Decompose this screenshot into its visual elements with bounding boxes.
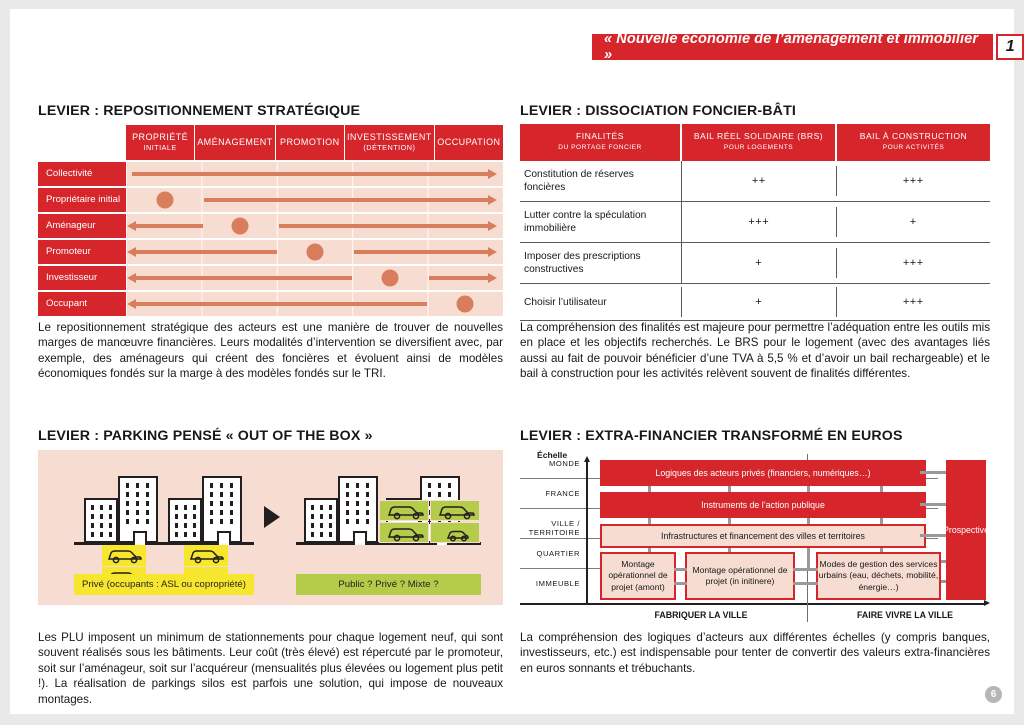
matrix-col-amenagement: Aménagement — [195, 125, 275, 160]
parking-cell-silo — [379, 500, 429, 521]
small-car-icon — [431, 523, 481, 544]
bar-logiques-acteurs-prives: Logiques des acteurs privés (financiers,… — [600, 460, 926, 486]
matrix-col-promotion: Promotion — [276, 125, 345, 160]
matrix-row-collectivite: Collectivité — [38, 162, 503, 187]
panel-title-repositionnement: LEVIER : REPOSITIONNEMENT STRATÉGIQUE — [38, 103, 503, 119]
legend-public-prive-mixte: Public ? Privé ? Mixte ? — [296, 574, 481, 595]
matrix-row-track — [126, 240, 503, 265]
paragraph-parking: Les PLU imposent un minimum de stationne… — [38, 630, 503, 707]
car-icon — [431, 501, 481, 522]
arrow-left — [135, 250, 277, 254]
matrix-repositionnement: Propriété initiale Aménagement Promotion… — [38, 125, 503, 316]
matrix-row-promoteur: Promoteur — [38, 240, 503, 265]
phase-dot — [307, 243, 324, 260]
page-edge-left — [0, 0, 10, 725]
table-cell-brs: + — [682, 287, 837, 317]
matrix-row-track — [126, 266, 503, 291]
scale-label-ville-territoire: Ville / Territoire — [520, 519, 580, 537]
table-cell-bac: +++ — [837, 248, 991, 278]
matrix-row-investisseur: Investisseur — [38, 266, 503, 291]
matrix-header-row: Propriété initiale Aménagement Promotion… — [38, 125, 503, 160]
box-prospective: Prospective — [946, 460, 986, 600]
bar-infrastructures-financement: Infrastructures et financement des ville… — [600, 524, 926, 548]
bar-instruments-action-publique: Instruments de l’action publique — [600, 492, 926, 518]
x-axis-arrow-icon — [984, 600, 990, 606]
arrow-right — [354, 250, 489, 254]
header-chapter-number: 1 — [996, 34, 1024, 60]
table-cell-brs: ++ — [682, 166, 837, 196]
table-col-sublabel: pour logements — [724, 143, 793, 154]
arrow-left — [135, 276, 352, 280]
car-icon — [380, 501, 430, 522]
table-cell-finalite: Choisir l’utilisateur — [520, 287, 682, 317]
connector — [674, 568, 687, 571]
car-icon — [102, 545, 146, 566]
header-title: « Nouvelle économie de l’aménagement et … — [592, 34, 993, 60]
arrow-right — [429, 276, 489, 280]
matrix-row-label: Investisseur — [38, 266, 126, 291]
table-header-row: Finalités du portage foncier Bail Réel S… — [520, 124, 990, 161]
document-page: « Nouvelle économie de l’aménagement et … — [0, 0, 1024, 725]
matrix-col-occupation: Occupation — [435, 125, 503, 160]
table-cell-bac: + — [837, 207, 991, 237]
table-row: Imposer des prescriptions constructives … — [520, 243, 990, 284]
table-col-finalites: Finalités du portage foncier — [520, 124, 682, 161]
parking-cell-underground — [184, 545, 228, 566]
building-tall-right — [338, 476, 378, 543]
matrix-row-track — [126, 162, 503, 187]
transform-arrow-icon — [264, 506, 280, 528]
table-dissociation: Finalités du portage foncier Bail Réel S… — [520, 124, 990, 321]
car-icon — [184, 545, 228, 566]
table-col-sublabel: du portage foncier — [558, 143, 642, 154]
page-edge-top — [0, 0, 1024, 9]
table-cell-bac: +++ — [837, 287, 991, 317]
scale-label-monde: Monde — [520, 459, 580, 468]
connector — [674, 582, 687, 585]
matrix-row-label: Collectivité — [38, 162, 126, 187]
matrix-row-label: Promoteur — [38, 240, 126, 265]
paragraph-dissociation: La compréhension des finalités est majeu… — [520, 320, 990, 382]
connector — [920, 471, 948, 474]
building-tall-left-2 — [202, 476, 242, 543]
phase-dot — [382, 269, 399, 286]
matrix-row-label: Aménageur — [38, 214, 126, 239]
parking-cell-silo — [430, 500, 480, 521]
table-row: Constitution de réserves foncières ++ ++… — [520, 161, 990, 202]
page-edge-right — [1014, 0, 1024, 725]
parking-cell-silo — [430, 522, 480, 543]
header-banner: « Nouvelle économie de l’aménagement et … — [592, 34, 1024, 60]
arrow-left — [135, 224, 203, 228]
matrix-row-track — [126, 188, 503, 213]
table-row: Lutter contre la spéculation immobilière… — [520, 202, 990, 243]
matrix-row-label: Propriétaire initial — [38, 188, 126, 213]
table-col-sublabel: pour activités — [883, 143, 945, 154]
table-col-label: Bail Réel Solidaire (BRS) — [694, 131, 823, 142]
page-number: 6 — [985, 686, 1002, 703]
matrix-col-propriete-initiale: Propriété initiale — [126, 125, 195, 160]
matrix-row-track — [126, 292, 503, 317]
matrix-header-spacer — [38, 125, 126, 160]
connector — [793, 568, 818, 571]
matrix-row-track — [126, 214, 503, 239]
page-edge-bottom — [0, 714, 1024, 725]
table-row: Choisir l’utilisateur + +++ — [520, 284, 990, 321]
table-col-label: Finalités — [576, 131, 624, 142]
table-cell-finalite: Imposer des prescriptions constructives — [520, 243, 682, 283]
table-cell-bac: +++ — [837, 166, 991, 196]
panel-title-extra-financier: LEVIER : EXTRA-FINANCIER TRANSFORMÉ EN E… — [520, 428, 990, 444]
table-cell-finalite: Constitution de réserves foncières — [520, 161, 682, 201]
matrix-row-amenageur: Aménageur — [38, 214, 503, 239]
connector — [920, 503, 948, 506]
table-cell-finalite: Lutter contre la spéculation immobilière — [520, 202, 682, 242]
parking-cell-underground — [102, 545, 146, 566]
table-cell-brs: + — [682, 248, 837, 278]
box-montage-amont: Montage opérationnel de projet (amont) — [600, 552, 676, 600]
figure-parking: Privé (occupants : ASL ou copropriété) P… — [38, 450, 503, 605]
phase-dot — [157, 191, 174, 208]
panel-title-dissociation: LEVIER : DISSOCIATION FONCIER-BÂTI — [520, 103, 990, 119]
arrow-right — [132, 172, 489, 176]
phase-dot — [457, 295, 474, 312]
parking-cell-silo — [379, 522, 429, 543]
building-small-left-2 — [168, 498, 202, 543]
arrow-right — [279, 224, 489, 228]
box-modes-gestion-services-urbains: Modes de gestion des services urbains (e… — [816, 552, 941, 600]
matrix-row-proprietaire-initial: Propriétaire initial — [38, 188, 503, 213]
scale-label-quartier: Quartier — [520, 549, 580, 558]
matrix-row-label: Occupant — [38, 292, 126, 317]
matrix-col-sublabel: initiale — [144, 143, 177, 152]
matrix-row-occupant: Occupant — [38, 292, 503, 317]
legend-prive: Privé (occupants : ASL ou copropriété) — [74, 574, 254, 595]
matrix-col-label: Investissement — [347, 132, 432, 142]
arrow-right — [204, 198, 489, 202]
y-axis-arrow-icon — [584, 456, 590, 462]
matrix-col-label: Propriété — [132, 132, 188, 142]
matrix-col-label: Aménagement — [197, 137, 272, 147]
box-montage-in-itinere: Montage opérationnel de projet (in initi… — [685, 552, 795, 600]
paragraph-repositionnement: Le repositionnement stratégique des acte… — [38, 320, 503, 382]
connector — [793, 582, 818, 585]
table-col-brs: Bail Réel Solidaire (BRS) pour logements — [682, 124, 837, 161]
matrix-col-investissement: Investissement (détention) — [345, 125, 435, 160]
phase-label-faire-vivre: FAIRE VIVRE LA VILLE — [820, 610, 990, 620]
matrix-col-label: Promotion — [280, 137, 340, 147]
table-col-label: Bail à Construction — [860, 131, 968, 142]
phase-dot — [232, 217, 249, 234]
building-small-left — [84, 498, 118, 543]
matrix-col-label: Occupation — [437, 137, 500, 147]
panel-title-parking: LEVIER : PARKING PENSÉ « OUT OF THE BOX … — [38, 428, 503, 444]
table-cell-brs: +++ — [682, 207, 837, 237]
matrix-col-sublabel: (détention) — [363, 143, 415, 152]
phase-label-fabriquer: FABRIQUER LA VILLE — [616, 610, 786, 620]
arrow-left — [135, 302, 427, 306]
table-col-bail-construction: Bail à Construction pour activités — [837, 124, 990, 161]
x-axis — [520, 603, 986, 605]
paragraph-extra-financier: La compréhension des logiques d’acteurs … — [520, 630, 990, 676]
building-tall-left — [118, 476, 158, 543]
scale-label-immeuble: Immeuble — [520, 579, 580, 588]
building-small-right — [304, 498, 338, 543]
y-axis — [586, 462, 588, 603]
scale-label-france: France — [520, 489, 580, 498]
car-icon — [380, 523, 430, 544]
figure-extra-financier: Échelle Temps Monde France Ville / Terri… — [520, 448, 990, 623]
